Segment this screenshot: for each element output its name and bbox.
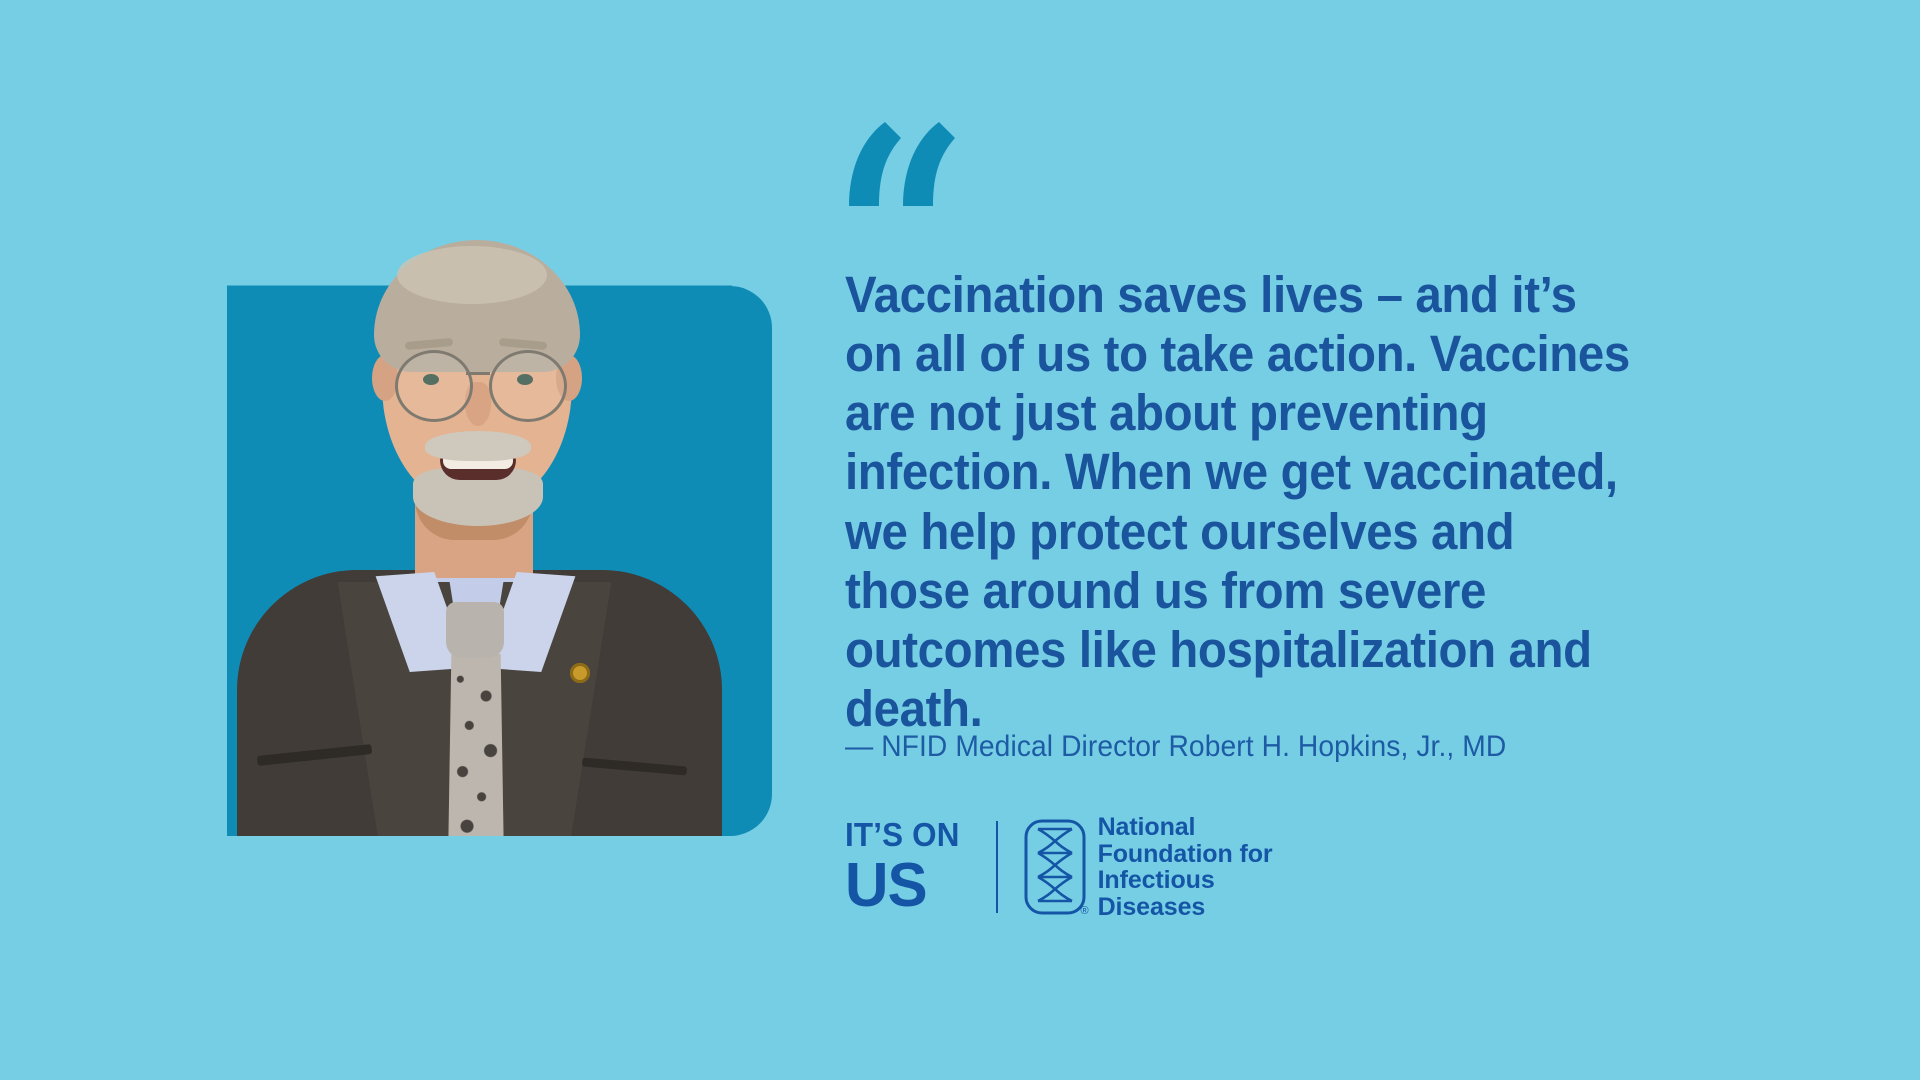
open-quote-icon — [845, 120, 975, 220]
hair-highlight — [397, 246, 547, 304]
nfid-word-line-3: Infectious — [1098, 867, 1273, 894]
nfid-logo[interactable]: ® National Foundation for Infectious Dis… — [1024, 814, 1273, 920]
eyeglass-lens-right — [489, 350, 567, 422]
nfid-word-line-4: Diseases — [1098, 894, 1273, 921]
quote-attribution: — NFID Medical Director Robert H. Hopkin… — [845, 730, 1691, 764]
nfid-wordmark: National Foundation for Infectious Disea… — [1098, 814, 1273, 920]
logo-lockup: IT’S ON US — [845, 812, 1273, 922]
logo-divider — [996, 821, 998, 913]
eyeglass-lens-left — [395, 350, 473, 422]
quote-graphic-canvas: Vaccination saves lives – and it’s on al… — [0, 0, 1920, 1080]
nfid-word-line-1: National — [1098, 814, 1273, 841]
necktie-knot — [446, 602, 504, 658]
necktie-paisley-pattern — [448, 654, 504, 836]
quote-content: Vaccination saves lives – and it’s on al… — [845, 0, 1845, 1080]
its-on-us-line2: US — [845, 855, 962, 917]
eyeglass-bridge — [466, 372, 490, 375]
lapel-pin-icon — [570, 663, 590, 683]
registered-trademark-icon: ® — [1080, 905, 1088, 917]
mustache — [425, 431, 531, 461]
dna-helix-icon: ® — [1024, 819, 1086, 915]
quote-text: Vaccination saves lives – and it’s on al… — [845, 265, 1636, 738]
its-on-us-line1: IT’S ON — [845, 818, 960, 851]
portrait-photo — [227, 150, 732, 836]
its-on-us-logo[interactable]: IT’S ON US — [845, 818, 966, 917]
portrait-block — [0, 0, 820, 1080]
nfid-word-line-2: Foundation for — [1098, 841, 1273, 868]
